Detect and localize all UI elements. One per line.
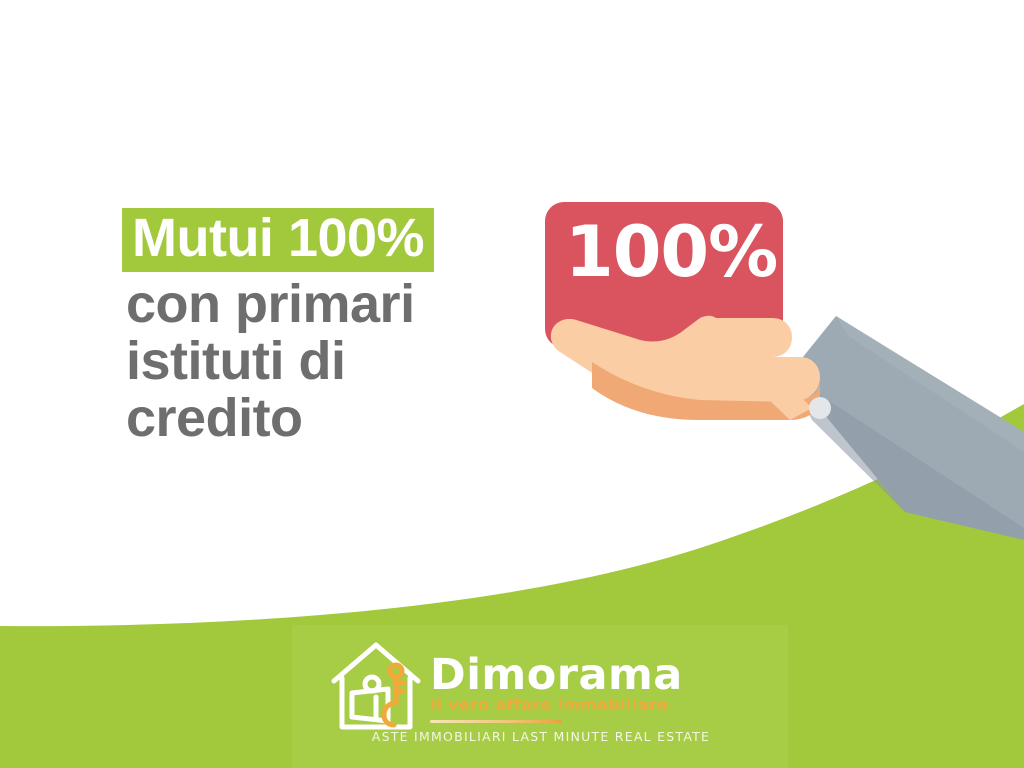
headline-line-1-wrap: Mutui 100% <box>126 208 526 272</box>
logo-tagline: Il vero affare immobiliare <box>430 696 683 714</box>
headline-highlight: Mutui 100% <box>122 208 434 272</box>
headline-line-3: istituti di <box>126 333 526 390</box>
headline-block: Mutui 100% con primari istituti di credi… <box>126 208 526 447</box>
badge-value: 100% <box>565 216 777 288</box>
banner-canvas: Mutui 100% con primari istituti di credi… <box>0 0 1024 768</box>
logo-block: Dimorama Il vero affare immobiliare ASTE… <box>292 625 788 768</box>
house-with-key-outline-icon <box>326 637 426 735</box>
headline-line-2: con primari <box>126 276 526 333</box>
logo-wordmark: Dimorama <box>430 653 683 697</box>
logo-subline: ASTE IMMOBILIARI LAST MINUTE REAL ESTATE <box>319 729 763 744</box>
badge-value-layer: 100% <box>545 202 783 348</box>
logo-text-block: Dimorama Il vero affare immobiliare <box>430 637 683 723</box>
logo-divider-rule <box>430 720 562 723</box>
headline-line-4: credito <box>126 390 526 447</box>
